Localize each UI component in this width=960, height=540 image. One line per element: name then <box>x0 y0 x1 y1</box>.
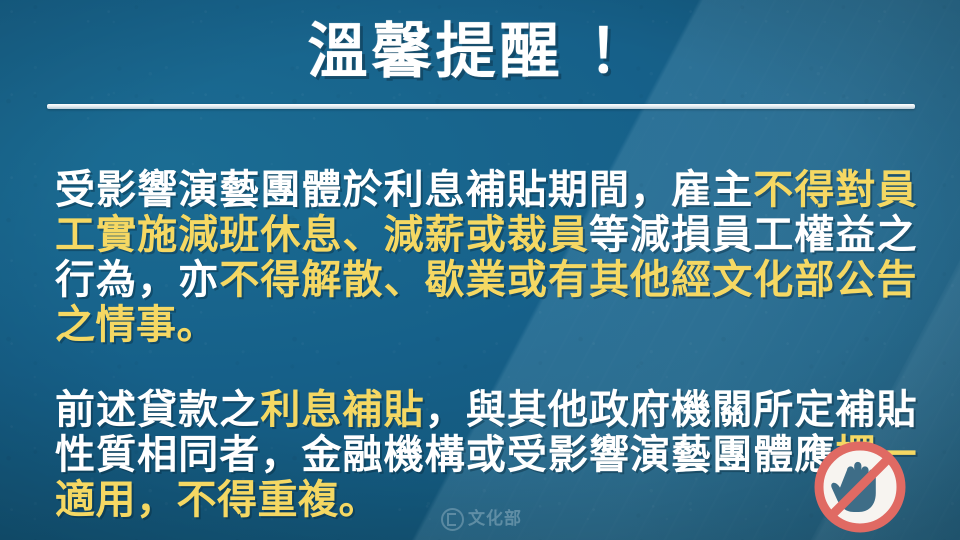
body-text-block: 受影響演藝團體於利息補貼期間，雇主不得對員工實施減班休息、減薪或裁員等減損員工權… <box>55 128 917 540</box>
text-run: 前述貸款之 <box>55 387 260 433</box>
emphasised-text-run: 利息補貼 <box>260 387 424 433</box>
text-run: 受影響演藝團體於利息補貼期間，雇主 <box>55 167 753 213</box>
ministry-logo-icon <box>441 508 464 531</box>
ministry-watermark: 文化部 <box>441 506 521 532</box>
watermark-label: 文化部 <box>468 510 522 529</box>
no-entry-stop-hand-icon <box>810 437 910 537</box>
title-divider <box>47 104 915 109</box>
paragraph-2: 前述貸款之利息補貼，與其他政府機關所定補貼性質相同者，金融機構或受影響演藝團體應… <box>55 388 917 523</box>
reminder-slide: 溫馨提醒 ！ 受影響演藝團體於利息補貼期間，雇主不得對員工實施減班休息、減薪或裁… <box>0 0 960 540</box>
paragraph-1: 受影響演藝團體於利息補貼期間，雇主不得對員工實施減班休息、減薪或裁員等減損員工權… <box>55 168 917 348</box>
page-title: 溫馨提醒 ！ <box>0 16 960 88</box>
